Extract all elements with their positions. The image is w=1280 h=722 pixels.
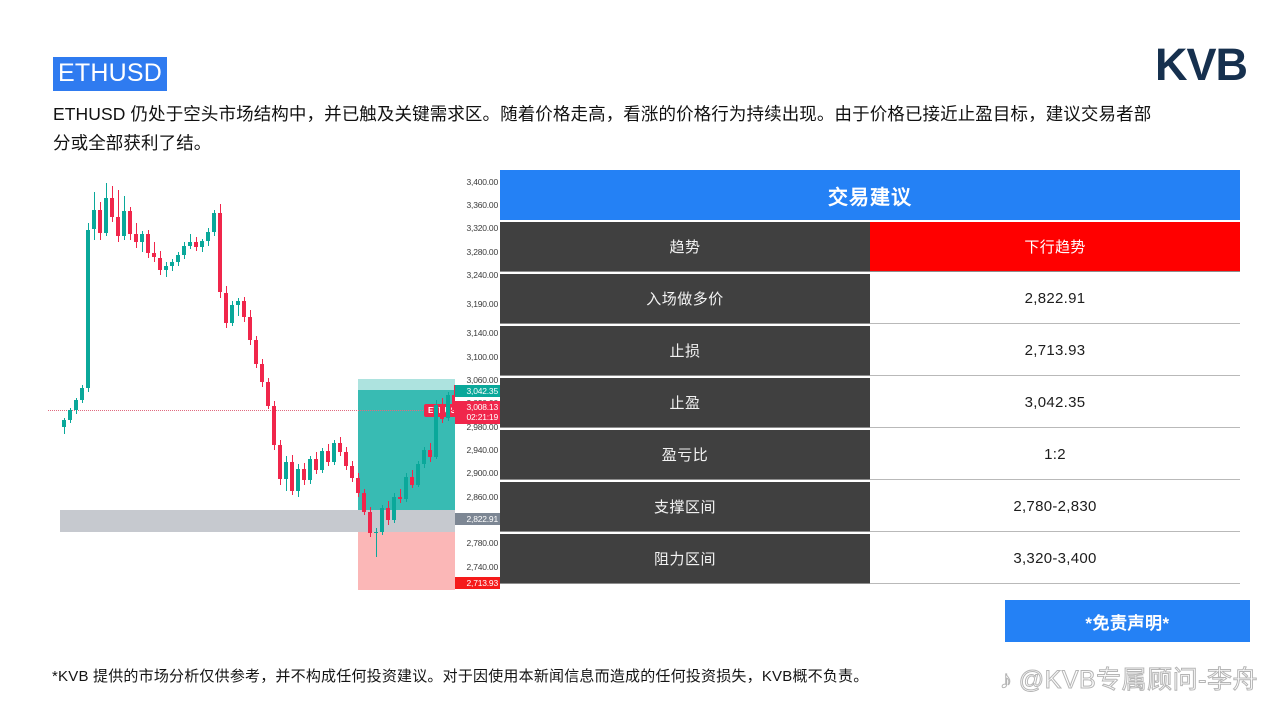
table-row-value: 1:2 <box>870 430 1240 480</box>
price-tag-value: 2,713.93 <box>455 578 498 588</box>
candle-body <box>68 410 72 419</box>
axis-tick-label: 2,780.00 <box>467 539 499 548</box>
candle-body <box>122 211 126 237</box>
profit-zone-top-band <box>358 379 455 390</box>
candle-body <box>440 405 444 419</box>
candle-body <box>92 210 96 230</box>
price-tag-stop-loss: 2,713.93 <box>455 577 500 589</box>
table-row-label: 阻力区间 <box>500 534 870 584</box>
price-tag-last-price: 3,008.1302:21:19 <box>455 401 500 424</box>
axis-tick-label: 3,240.00 <box>467 271 499 280</box>
kvb-logo: KVB <box>1155 41 1247 89</box>
candle-body <box>404 477 408 499</box>
table-row-label: 止盈 <box>500 378 870 428</box>
candle-body <box>380 508 384 531</box>
candle-body <box>212 213 216 232</box>
candle-body <box>194 242 198 247</box>
candle-body <box>308 459 312 480</box>
price-tag-value: 3,042.35 <box>455 386 498 396</box>
candle-body <box>170 262 174 266</box>
trend-badge: 下行趋势 <box>870 222 1240 272</box>
candle-body <box>344 452 348 466</box>
candle-body <box>428 450 432 457</box>
table-row: 入场做多价2,822.91 <box>500 274 1240 324</box>
axis-tick-label: 3,140.00 <box>467 329 499 338</box>
candle-body <box>248 317 252 340</box>
candle-body <box>188 242 192 246</box>
candle-body <box>302 469 306 481</box>
axis-tick-label: 3,100.00 <box>467 353 499 362</box>
candle-body <box>98 210 102 233</box>
candle-body <box>134 234 138 242</box>
candle-body <box>260 364 264 383</box>
candle-body <box>362 493 366 512</box>
candle-body <box>86 230 90 389</box>
axis-tick-label: 2,940.00 <box>467 446 499 455</box>
candle-body <box>182 246 186 255</box>
candle-body <box>332 443 336 462</box>
footer-disclaimer: *KVB 提供的市场分析仅供参考，并不构成任何投资建议。对于因使用本新闻信息而造… <box>52 666 868 688</box>
candle-body <box>230 305 234 323</box>
candle-body <box>224 293 228 323</box>
candle-body <box>62 420 66 427</box>
table-row-value: 3,320-3,400 <box>870 534 1240 584</box>
last-price-line <box>48 410 455 411</box>
table-title: 交易建议 <box>500 170 1240 220</box>
axis-tick-label: 3,360.00 <box>467 201 499 210</box>
axis-tick-label: 3,190.00 <box>467 300 499 309</box>
symbol-chip: ETHUSD <box>53 57 167 91</box>
price-chart: ETHUSD 3,400.003,360.003,320.003,280.003… <box>0 170 500 590</box>
table-row: 止盈3,042.35 <box>500 378 1240 428</box>
candle-body <box>326 451 330 462</box>
price-tag-countdown: 02:21:19 <box>455 413 498 423</box>
axis-tick-label: 2,740.00 <box>467 563 499 572</box>
candle-body <box>338 443 342 452</box>
candle-body <box>368 512 372 533</box>
candle-body <box>356 478 360 493</box>
candle-body <box>164 266 168 271</box>
price-tag-take-profit: 3,042.35 <box>455 385 500 397</box>
watermark-text: @KVB专属顾问-李舟 <box>1019 666 1258 694</box>
axis-tick-label: 2,860.00 <box>467 493 499 502</box>
candle-body <box>296 469 300 491</box>
candle-body <box>278 445 282 479</box>
candle-body <box>206 232 210 241</box>
price-axis: 3,400.003,360.003,320.003,280.003,240.00… <box>455 170 500 590</box>
table-body: 趋势下行趋势入场做多价2,822.91止损2,713.93止盈3,042.35盈… <box>500 222 1240 584</box>
candle-body <box>350 466 354 478</box>
candle-body <box>386 508 390 520</box>
table-row-value: 3,042.35 <box>870 378 1240 428</box>
candle-body <box>416 464 420 485</box>
table-row-label: 盈亏比 <box>500 430 870 480</box>
candle-body <box>74 400 78 411</box>
disclaimer-button[interactable]: *免责声明* <box>1005 600 1250 642</box>
axis-tick-label: 3,060.00 <box>467 376 499 385</box>
candle-body <box>158 258 162 271</box>
table-row: 趋势下行趋势 <box>500 222 1240 272</box>
trade-recommendation-table: 交易建议 趋势下行趋势入场做多价2,822.91止损2,713.93止盈3,04… <box>500 170 1240 584</box>
candle-body <box>80 388 84 400</box>
table-row-label: 止损 <box>500 326 870 376</box>
candle-body <box>272 406 276 446</box>
table-row: 支撑区间2,780-2,830 <box>500 482 1240 532</box>
table-row: 止损2,713.93 <box>500 326 1240 376</box>
axis-tick-label: 3,400.00 <box>467 178 499 187</box>
axis-tick-label: 3,320.00 <box>467 224 499 233</box>
candle-body <box>284 462 288 480</box>
table-row-value: 2,713.93 <box>870 326 1240 376</box>
candle-body <box>290 462 294 491</box>
candle-body <box>218 213 222 292</box>
table-row-value: 2,780-2,830 <box>870 482 1240 532</box>
candle-body <box>236 301 240 306</box>
candle-body <box>152 253 156 258</box>
candle-body <box>110 198 114 217</box>
table-row-value: 2,822.91 <box>870 274 1240 324</box>
table-row-label: 入场做多价 <box>500 274 870 324</box>
axis-tick-label: 3,280.00 <box>467 248 499 257</box>
candle-body <box>140 234 144 242</box>
candle-body <box>266 382 270 405</box>
candle-body <box>200 241 204 247</box>
axis-tick-label: 2,900.00 <box>467 469 499 478</box>
candle-body <box>116 217 120 237</box>
chart-plot-area: ETHUSD <box>0 170 455 590</box>
candle-body <box>410 477 414 485</box>
candle-body <box>422 450 426 464</box>
table-row-label: 趋势 <box>500 222 870 272</box>
candle-body <box>146 234 150 253</box>
watermark: ♪@KVB专属顾问-李舟 <box>1000 665 1258 695</box>
candle-body <box>392 497 396 520</box>
candle-body <box>104 198 108 233</box>
market-summary-text: ETHUSD 仍处于空头市场结构中，并已触及关键需求区。随着价格走高，看涨的价格… <box>53 100 1163 158</box>
candle-body <box>446 395 450 418</box>
music-note-icon: ♪ <box>1000 666 1013 694</box>
candle-body <box>254 340 258 363</box>
candle-body <box>320 451 324 470</box>
candle-body <box>314 459 318 470</box>
table-row: 盈亏比1:2 <box>500 430 1240 480</box>
candle-body <box>242 301 246 317</box>
table-row: 阻力区间3,320-3,400 <box>500 534 1240 584</box>
candle-body <box>128 211 132 234</box>
price-tag-entry: 2,822.91 <box>455 513 500 525</box>
candle-body <box>374 532 378 533</box>
candle-body <box>434 405 438 458</box>
table-row-label: 支撑区间 <box>500 482 870 532</box>
candle-body <box>176 255 180 262</box>
candle-body <box>398 497 402 499</box>
candle-wick <box>400 489 401 503</box>
price-tag-value: 2,822.91 <box>455 514 498 524</box>
